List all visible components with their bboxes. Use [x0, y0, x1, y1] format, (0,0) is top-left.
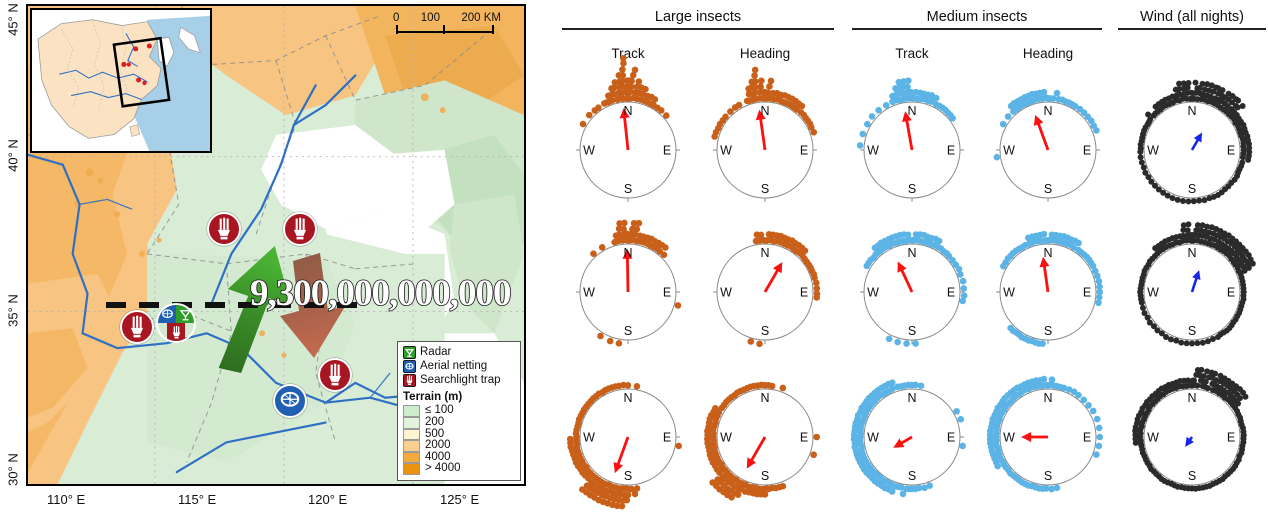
cardinal-west: W	[720, 431, 732, 445]
data-point	[994, 154, 1001, 161]
cardinal-south: S	[1044, 182, 1052, 196]
legend-item-netting: Aerial netting	[403, 360, 515, 373]
map-panel: 45° N 40° N 35° N 30° N 110° E 115° E 12…	[0, 0, 540, 530]
cardinal-west: W	[720, 144, 732, 158]
cardinal-east: E	[1083, 144, 1091, 158]
data-point	[609, 97, 616, 104]
data-point	[960, 278, 967, 285]
data-point	[625, 382, 632, 389]
lat-label-35: 35° N	[6, 286, 21, 336]
data-point	[864, 121, 871, 128]
cardinal-south: S	[908, 469, 916, 483]
searchlight-trap-marker-4[interactable]	[318, 358, 352, 392]
data-point	[886, 336, 893, 343]
cardinal-east: E	[1227, 431, 1235, 445]
cardinal-east: E	[800, 286, 808, 300]
data-point	[1187, 96, 1193, 102]
site-combo-central[interactable]	[156, 303, 196, 343]
legend-item-searchlight: Searchlight trap	[403, 374, 515, 387]
cardinal-west: W	[720, 286, 732, 300]
cardinal-north: N	[760, 391, 769, 405]
data-point	[859, 131, 866, 138]
data-point	[949, 115, 956, 122]
aerial-netting-quadrant[interactable]	[158, 305, 176, 323]
cardinal-north: N	[907, 104, 916, 118]
terrain-row-4: 2000	[403, 440, 515, 452]
data-point	[1246, 265, 1252, 271]
terrain-legend-title: Terrain (m)	[403, 391, 515, 403]
group-header-medium-insects: Medium insects	[852, 9, 1102, 30]
data-point	[1190, 90, 1196, 96]
searchlight-icon	[287, 216, 313, 242]
data-point	[619, 66, 626, 73]
data-point	[711, 133, 718, 140]
net-glyph	[404, 361, 415, 372]
data-point	[780, 385, 787, 392]
data-point	[1096, 443, 1103, 450]
data-point	[1093, 127, 1100, 134]
data-point	[727, 108, 734, 115]
cardinal-north: N	[907, 246, 916, 260]
circular-plot-graphic: NESW	[690, 75, 840, 225]
circular-plot-summer-large-insects-track: NESW	[553, 217, 703, 367]
terrain-swatch-4	[403, 440, 420, 452]
data-point	[752, 67, 759, 74]
terrain-swatch-6	[403, 463, 420, 475]
radar-quadrant[interactable]	[176, 305, 194, 323]
data-point	[636, 220, 643, 227]
data-point	[1242, 394, 1248, 400]
cardinal-east: E	[1083, 286, 1091, 300]
data-point	[1142, 310, 1148, 316]
cardinal-west: W	[1003, 144, 1015, 158]
circular-plot-graphic: NESW	[837, 217, 987, 367]
circular-plot-spring-large-insects-heading: NESW	[690, 75, 840, 225]
cardinal-south: S	[761, 469, 769, 483]
data-point	[709, 479, 716, 486]
data-point	[869, 113, 876, 120]
data-point	[1041, 231, 1048, 238]
cardinal-west: W	[583, 144, 595, 158]
circular-plot-spring-large-insects-track: NESW	[553, 75, 703, 225]
cardinal-north: N	[623, 104, 632, 118]
cardinal-east: E	[800, 144, 808, 158]
cardinal-south: S	[908, 182, 916, 196]
data-point	[586, 112, 593, 119]
terrain-swatch-1	[403, 405, 420, 417]
data-point	[1185, 198, 1191, 204]
data-point	[810, 451, 817, 458]
legend-label-radar: Radar	[420, 346, 451, 359]
data-point	[752, 78, 759, 85]
cardinal-east: E	[1227, 144, 1235, 158]
data-point	[813, 294, 820, 301]
terrain-row-1: ≤ 100	[403, 405, 515, 417]
data-point	[810, 129, 817, 136]
circular-plot-graphic: NESW	[1117, 75, 1267, 225]
searchlight-icon	[169, 325, 184, 340]
data-point	[918, 382, 925, 389]
cardinal-west: W	[867, 286, 879, 300]
col-header-large-heading: Heading	[715, 46, 815, 61]
data-point	[661, 252, 668, 259]
data-point	[1235, 98, 1241, 104]
data-point	[900, 491, 907, 498]
mean-vector-shaft	[627, 255, 628, 292]
legend-item-radar: Radar	[403, 346, 515, 359]
data-point	[889, 379, 896, 386]
data-point	[652, 96, 659, 103]
data-point	[883, 102, 890, 109]
legend-label-searchlight: Searchlight trap	[420, 374, 501, 387]
cardinal-north: N	[1187, 391, 1196, 405]
data-point	[1041, 376, 1048, 383]
data-point	[1007, 325, 1014, 332]
radar-icon	[403, 346, 416, 359]
group-header-large-insects: Large insects	[562, 9, 834, 30]
data-point	[1235, 401, 1241, 407]
data-point	[642, 86, 649, 93]
data-point	[662, 244, 669, 251]
net-icon	[403, 360, 416, 373]
legend-label-netting: Aerial netting	[420, 360, 487, 373]
data-point	[1212, 371, 1218, 377]
data-point	[1080, 397, 1087, 404]
group-header-wind-label: Wind (all nights)	[1118, 9, 1266, 28]
data-point	[957, 271, 964, 278]
data-point	[1200, 340, 1206, 346]
data-point	[612, 79, 619, 86]
data-point	[580, 121, 587, 128]
data-point	[757, 83, 764, 90]
data-point	[1209, 82, 1215, 88]
terrain-swatch-2	[403, 417, 420, 429]
data-point	[751, 72, 758, 79]
data-point	[1142, 170, 1148, 176]
circular-plot-spring-medium-insects-heading: NESW	[973, 75, 1123, 225]
group-header-rule	[562, 28, 834, 30]
circular-plot-graphic: NESW	[1117, 362, 1267, 512]
group-header-medium-insects-label: Medium insects	[852, 9, 1102, 28]
circular-plot-graphic: NESW	[553, 217, 703, 367]
data-point	[632, 67, 639, 74]
data-point	[658, 107, 665, 114]
data-point	[1185, 221, 1191, 227]
data-point	[1240, 103, 1246, 109]
terrain-row-2: 200	[403, 417, 515, 429]
circular-plot-graphic: NESW	[553, 362, 703, 512]
cardinal-west: W	[1147, 144, 1159, 158]
data-point	[905, 77, 912, 84]
data-point	[1054, 90, 1061, 97]
net-icon	[160, 307, 175, 322]
circular-plot-graphic: NESW	[973, 75, 1123, 225]
lat-label-30: 30° N	[6, 445, 21, 495]
cardinal-east: E	[663, 431, 671, 445]
searchlight-trap-marker-2[interactable]	[283, 212, 317, 246]
data-point	[1191, 377, 1197, 383]
terrain-swatch-3	[403, 429, 420, 441]
col-header-large-track: Track	[578, 46, 678, 61]
data-point	[1145, 111, 1151, 117]
lon-label-115: 115° E	[178, 492, 216, 507]
data-point	[1096, 425, 1103, 432]
data-point	[813, 434, 820, 441]
circular-plot-spring-medium-insects-track: NESW	[837, 75, 987, 225]
data-point	[597, 333, 604, 340]
data-point	[567, 436, 574, 443]
circular-plot-graphic: NESW	[553, 75, 703, 225]
data-point	[933, 95, 940, 102]
circular-plot-fall-medium-insects-track: NESW	[837, 362, 987, 512]
cardinal-south: S	[1044, 469, 1052, 483]
data-point	[1205, 338, 1211, 344]
group-header-rule	[1118, 28, 1266, 30]
data-point	[590, 250, 597, 257]
cardinal-north: N	[1187, 246, 1196, 260]
data-point	[1085, 402, 1092, 409]
searchlight-icon	[403, 374, 416, 387]
data-point	[799, 103, 806, 110]
cardinal-east: E	[947, 431, 955, 445]
data-point	[1245, 157, 1251, 163]
circular-plot-fall-wind-all-nights: NESW	[1117, 362, 1267, 512]
cardinal-west: W	[867, 431, 879, 445]
circular-plot-summer-medium-insects-track: NESW	[837, 217, 987, 367]
cardinal-south: S	[624, 182, 632, 196]
cardinal-west: W	[1003, 286, 1015, 300]
terrain-row-3: 500	[403, 429, 515, 441]
cardinal-east: E	[1227, 286, 1235, 300]
cardinal-north: N	[1043, 104, 1052, 118]
data-point	[663, 112, 670, 119]
group-header-wind: Wind (all nights)	[1118, 9, 1266, 30]
col-header-medium-track: Track	[862, 46, 962, 61]
group-header-large-insects-label: Large insects	[562, 9, 834, 28]
data-point	[1140, 305, 1146, 311]
cardinal-north: N	[1043, 246, 1052, 260]
circular-plot-graphic: NESW	[973, 362, 1123, 512]
data-point	[1198, 367, 1204, 373]
data-point	[1187, 237, 1193, 243]
data-point	[1220, 87, 1226, 93]
lon-label-110: 110° E	[47, 492, 85, 507]
circular-plot-fall-medium-insects-heading: NESW	[973, 362, 1123, 512]
lat-label-45: 45° N	[6, 0, 21, 45]
circular-plot-graphic: NESW	[837, 75, 987, 225]
data-point	[1075, 240, 1082, 247]
data-point	[620, 55, 627, 62]
data-point	[1240, 154, 1246, 160]
cardinal-south: S	[761, 182, 769, 196]
circular-plot-graphic: NESW	[1117, 217, 1267, 367]
map-frame[interactable]: 0 100 200 KM	[26, 4, 526, 486]
insect-biomass-number: 9,300,000,000,000	[250, 272, 511, 315]
searchlight-icon	[211, 216, 237, 242]
cardinal-south: S	[908, 324, 916, 338]
data-point	[894, 339, 901, 346]
circular-plot-fall-large-insects-track: NESW	[553, 362, 703, 512]
data-point	[1175, 197, 1181, 203]
data-point	[1196, 198, 1202, 204]
lon-label-125: 125° E	[440, 492, 479, 507]
terrain-swatch-5	[403, 452, 420, 464]
data-point	[1194, 340, 1200, 346]
cardinal-east: E	[947, 144, 955, 158]
terrain-row-6: > 4000	[403, 463, 515, 475]
cardinal-south: S	[761, 324, 769, 338]
map-legend: Radar Aerial netting	[397, 341, 521, 481]
data-point	[961, 285, 968, 292]
data-point	[619, 72, 626, 79]
col-header-medium-heading: Heading	[998, 46, 1098, 61]
net-icon	[277, 388, 303, 414]
data-point	[675, 302, 682, 309]
data-point	[1049, 376, 1056, 383]
cardinal-west: W	[583, 286, 595, 300]
data-point	[1139, 160, 1145, 166]
data-point	[1188, 232, 1194, 238]
aerial-netting-marker[interactable]	[273, 384, 307, 418]
data-point	[1095, 299, 1102, 306]
data-point	[1194, 383, 1200, 389]
cardinal-east: E	[1083, 431, 1091, 445]
terrain-label-6: > 4000	[425, 463, 461, 475]
data-point	[875, 107, 882, 114]
cardinal-north: N	[760, 246, 769, 260]
data-point	[1184, 340, 1190, 346]
data-point	[599, 244, 606, 251]
cardinal-east: E	[800, 431, 808, 445]
data-point	[1180, 198, 1186, 204]
data-point	[1201, 197, 1207, 203]
circular-plot-summer-medium-insects-heading: NESW	[973, 217, 1123, 367]
data-point	[616, 340, 623, 347]
data-point	[1000, 121, 1007, 128]
data-point	[621, 220, 628, 227]
data-point	[758, 77, 765, 84]
cardinal-west: W	[583, 431, 595, 445]
radar-icon	[178, 307, 193, 322]
circular-plot-spring-wind-all-nights: NESW	[1117, 75, 1267, 225]
data-point	[1097, 434, 1104, 441]
data-point	[1185, 80, 1191, 86]
data-point	[636, 78, 643, 85]
data-point	[595, 104, 602, 111]
searchlight-trap-marker-3[interactable]	[120, 310, 154, 344]
cardinal-north: N	[1043, 391, 1052, 405]
data-point	[1093, 451, 1100, 458]
cardinal-south: S	[1188, 324, 1196, 338]
circular-plots-panel: Large insects Medium insects Wind (all n…	[540, 0, 1268, 530]
lon-label-120: 120° E	[308, 492, 347, 507]
cardinal-north: N	[623, 246, 632, 260]
cardinal-north: N	[1187, 104, 1196, 118]
data-point	[936, 238, 943, 245]
circular-plot-summer-large-insects-heading: NESW	[690, 217, 840, 367]
searchlight-icon	[322, 362, 348, 388]
circular-plot-summer-wind-all-nights: NESW	[1117, 217, 1267, 367]
data-point	[1138, 154, 1144, 160]
data-point	[675, 443, 682, 450]
circular-plot-graphic: NESW	[837, 362, 987, 512]
cardinal-north: N	[760, 104, 769, 118]
lat-label-40: 40° N	[6, 131, 21, 181]
circular-plot-graphic: NESW	[973, 217, 1123, 367]
data-point	[769, 383, 776, 390]
cardinal-east: E	[663, 144, 671, 158]
data-point	[611, 91, 618, 98]
data-point	[634, 383, 641, 390]
data-point	[959, 443, 966, 450]
cardinal-south: S	[624, 469, 632, 483]
circular-plot-graphic: NESW	[690, 217, 840, 367]
data-point	[1005, 113, 1012, 120]
cardinal-east: E	[947, 286, 955, 300]
cardinal-south: S	[1044, 324, 1052, 338]
data-point	[953, 408, 960, 415]
radar-glyph	[404, 347, 415, 358]
data-point	[959, 298, 966, 305]
data-point	[634, 226, 641, 233]
data-point	[903, 340, 910, 347]
data-point	[748, 338, 755, 345]
data-point	[1094, 416, 1101, 423]
data-point	[579, 486, 586, 493]
cardinal-south: S	[624, 324, 632, 338]
data-point	[768, 78, 775, 85]
cardinal-west: W	[867, 144, 879, 158]
cardinal-west: W	[1147, 286, 1159, 300]
data-point	[1237, 395, 1243, 401]
cardinal-north: N	[623, 391, 632, 405]
circular-plot-graphic: NESW	[690, 362, 840, 512]
data-point	[610, 85, 617, 92]
circular-plot-fall-large-insects-heading: NESW	[690, 362, 840, 512]
data-point	[756, 340, 763, 347]
data-point	[912, 340, 919, 347]
group-header-rule	[852, 28, 1102, 30]
searchlight-icon	[124, 314, 150, 340]
cardinal-east: E	[663, 286, 671, 300]
searchlight-glyph	[404, 375, 415, 386]
terrain-label-2: 200	[425, 417, 444, 429]
data-point	[1189, 340, 1195, 346]
data-point	[1075, 392, 1082, 399]
cardinal-west: W	[1003, 431, 1015, 445]
data-point	[628, 78, 635, 85]
data-point	[607, 338, 614, 345]
searchlight-quadrant[interactable]	[167, 323, 185, 341]
cardinal-south: S	[1188, 469, 1196, 483]
cardinal-south: S	[1188, 182, 1196, 196]
data-point	[712, 405, 719, 412]
data-point	[1191, 198, 1197, 204]
cardinal-west: W	[1147, 431, 1159, 445]
data-point	[1090, 408, 1097, 415]
searchlight-trap-marker-1[interactable]	[207, 212, 241, 246]
data-point	[1193, 80, 1199, 86]
data-point	[957, 416, 964, 423]
data-point	[1173, 338, 1179, 344]
cardinal-north: N	[907, 391, 916, 405]
data-point	[857, 142, 864, 149]
